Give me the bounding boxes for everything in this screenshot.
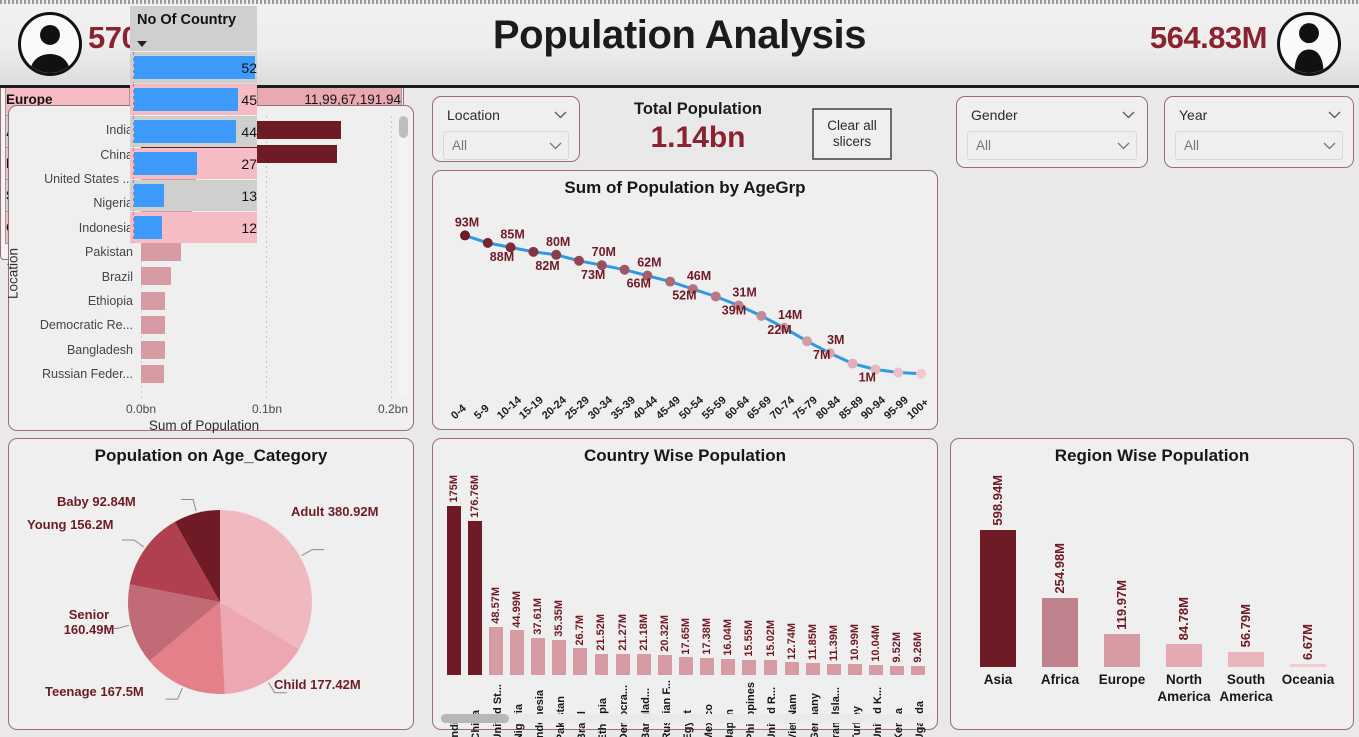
- country-chart-bars[interactable]: 175M176.76M48.57M44.99M37.61M35.35M26.7M…: [443, 475, 929, 675]
- axis-tick-label: 45-49: [654, 394, 683, 422]
- axis-tick-label: Oceania: [1277, 671, 1339, 688]
- chevron-down-icon[interactable]: [1328, 111, 1341, 119]
- pie-slice-label: Teenage 167.5M: [45, 684, 144, 699]
- region-bar[interactable]: [1104, 634, 1140, 667]
- location-bar[interactable]: [141, 316, 165, 334]
- data-label: 21.18M: [638, 614, 650, 651]
- region-bar-column[interactable]: 6.67M: [1290, 475, 1326, 667]
- axis-tick-label: 85-89: [837, 394, 866, 422]
- country-bar[interactable]: [510, 630, 524, 675]
- age-group-xaxis: 0-45-910-1415-1920-2425-2930-3435-3940-4…: [433, 384, 939, 428]
- scrollbar-thumb[interactable]: [399, 116, 408, 138]
- table-cell-country-count: 52: [130, 52, 258, 84]
- slicer-gender-value: All: [976, 138, 991, 153]
- data-label: 46M: [687, 269, 711, 283]
- location-bar-label: Democratic Re...: [19, 318, 141, 332]
- axis-tick-label: Europe: [1091, 671, 1153, 688]
- data-label: 85M: [500, 227, 524, 241]
- column-header-no-of-country[interactable]: No Of Country: [130, 6, 258, 52]
- pie-plot[interactable]: Adult 380.92MChild 177.42MTeenage 167.5M…: [9, 439, 415, 731]
- country-bar[interactable]: [806, 663, 820, 675]
- chevron-down-icon[interactable]: [549, 142, 562, 150]
- axis-tick-label: 40-44: [631, 394, 660, 422]
- data-label: 39M: [722, 304, 746, 318]
- slicer-year-label: Year: [1179, 107, 1207, 123]
- country-bar-column[interactable]: 9.26M: [911, 475, 925, 675]
- country-bar[interactable]: [616, 654, 630, 675]
- country-bar-column[interactable]: 48.57M: [489, 475, 503, 675]
- country-bar[interactable]: [911, 666, 925, 675]
- country-bar[interactable]: [869, 665, 883, 675]
- country-bar[interactable]: [742, 660, 756, 675]
- axis-tick-label: 30-34: [586, 394, 615, 422]
- data-point[interactable]: [711, 292, 721, 302]
- age-group-chart-title: Sum of Population by AgeGrp: [433, 171, 937, 198]
- axis-tick-label: United St...: [492, 684, 504, 737]
- location-chart-scrollbar[interactable]: [399, 116, 408, 398]
- axis-tick-label: United K...: [872, 687, 884, 737]
- age-category-pie-chart[interactable]: Population on Age_Category Adult 380.92M…: [8, 438, 414, 730]
- data-label: 80M: [546, 235, 570, 249]
- gridline: [391, 116, 392, 398]
- location-bar-label: China: [19, 148, 141, 162]
- header-top-pattern: [0, 0, 1359, 4]
- data-point[interactable]: [848, 359, 858, 369]
- slicer-year-dropdown[interactable]: All: [1175, 131, 1343, 160]
- table-cell-country-count: 45: [130, 84, 258, 116]
- data-label: 10.04M: [870, 625, 882, 662]
- pie-slice-label: Senior 160.49M: [53, 607, 125, 637]
- data-label: 31M: [732, 285, 756, 299]
- axis-tick-label: 70-74: [768, 394, 797, 422]
- total-population-value: 1.14bn: [600, 121, 796, 155]
- region-bar-chart[interactable]: Region Wise Population 598.94M254.98M119…: [950, 438, 1354, 730]
- data-label: 12.74M: [786, 623, 798, 660]
- data-point[interactable]: [893, 368, 903, 378]
- axis-tick-label: Africa: [1029, 671, 1091, 688]
- data-label: 88M: [490, 250, 514, 264]
- country-bar-column[interactable]: 21.18M: [637, 475, 651, 675]
- data-label: 1M: [859, 371, 876, 382]
- scrollbar-thumb[interactable]: [441, 714, 509, 723]
- country-bar[interactable]: [890, 666, 904, 675]
- country-chart-title: Country Wise Population: [433, 439, 937, 466]
- data-label: 62M: [637, 256, 661, 270]
- region-chart-title: Region Wise Population: [951, 439, 1353, 466]
- data-label: 175M: [448, 475, 460, 503]
- table-cell-country-count: 44: [130, 116, 258, 148]
- table-cell-country-count: 13: [130, 180, 258, 212]
- country-bar-column[interactable]: 17.65M: [679, 475, 693, 675]
- country-bar[interactable]: [595, 654, 609, 675]
- country-bar[interactable]: [700, 658, 714, 675]
- pie-slice-label: Young 156.2M: [27, 517, 113, 532]
- axis-tick-label: South America: [1215, 671, 1277, 705]
- data-label: 56.79M: [1238, 604, 1253, 647]
- location-bar-track: [141, 264, 391, 288]
- data-label: 84.78M: [1176, 597, 1191, 640]
- axis-tick-label: 75-79: [791, 394, 820, 422]
- axis-tick-label: 55-59: [700, 394, 729, 422]
- location-bar-label: Russian Feder...: [19, 367, 141, 381]
- data-point[interactable]: [528, 247, 538, 257]
- data-point[interactable]: [483, 238, 493, 248]
- data-label: 254.98M: [1052, 543, 1067, 594]
- pie-slice-label: Adult 380.92M: [291, 504, 378, 519]
- location-bar-row[interactable]: Democratic Re...: [19, 313, 391, 337]
- axis-tick-label: United R...: [766, 687, 778, 737]
- country-bar[interactable]: [637, 654, 651, 675]
- country-bar-column[interactable]: 44.99M: [510, 475, 524, 675]
- country-bar[interactable]: [764, 660, 778, 675]
- location-bar[interactable]: [141, 341, 165, 359]
- data-point[interactable]: [620, 265, 630, 275]
- chevron-down-icon[interactable]: [1122, 111, 1135, 119]
- country-bar-column[interactable]: 15.02M: [764, 475, 778, 675]
- axis-tick-label: 50-54: [677, 394, 706, 422]
- region-bar-column[interactable]: 119.97M: [1104, 475, 1140, 667]
- axis-tick-label: 0.2bn: [378, 402, 408, 416]
- data-label: 20.32M: [659, 615, 671, 652]
- region-bar[interactable]: [1042, 598, 1078, 667]
- axis-tick-label: Russian F...: [661, 680, 673, 737]
- country-bar-column[interactable]: 35.35M: [552, 475, 566, 675]
- axis-tick-label: 5-9: [472, 402, 492, 422]
- region-chart-bars[interactable]: 598.94M254.98M119.97M84.78M56.79M6.67M: [967, 475, 1339, 667]
- data-label: 11.39M: [828, 625, 840, 661]
- country-bar-column[interactable]: 176.76M: [468, 475, 482, 675]
- data-label: 15.02M: [765, 620, 777, 657]
- table-cell-value: 44: [130, 117, 257, 147]
- data-label: 73M: [581, 268, 605, 282]
- data-label: 35.35M: [553, 600, 565, 637]
- location-bar[interactable]: [141, 243, 181, 261]
- data-label: 10.99M: [849, 624, 861, 661]
- axis-tick-label: Asia: [967, 671, 1029, 688]
- region-bar-column[interactable]: 254.98M: [1042, 475, 1078, 667]
- country-bar-column[interactable]: 26.7M: [573, 475, 587, 675]
- data-label: 9.26M: [912, 632, 924, 663]
- data-label: 15.55M: [743, 620, 755, 657]
- location-bar-label: United States ...: [19, 172, 141, 186]
- country-bar[interactable]: [552, 640, 566, 675]
- data-label: 22M: [767, 323, 791, 337]
- slicer-gender-header[interactable]: Gender: [967, 105, 1137, 131]
- location-bar-row[interactable]: Pakistan: [19, 240, 391, 264]
- axis-tick-label: 80-84: [814, 394, 843, 422]
- country-bar-column[interactable]: 10.99M: [848, 475, 862, 675]
- data-label: 598.94M: [990, 475, 1005, 526]
- country-bar-column[interactable]: 21.27M: [616, 475, 630, 675]
- data-label: 37.61M: [532, 598, 544, 635]
- data-label: 17.65M: [680, 618, 692, 655]
- female-population-value: 564.83M: [1150, 20, 1267, 56]
- pie-leader-line: [181, 500, 196, 512]
- region-bar-column[interactable]: 84.78M: [1166, 475, 1202, 667]
- country-bar-column[interactable]: 10.04M: [869, 475, 883, 675]
- slicer-year-header[interactable]: Year: [1175, 105, 1343, 131]
- location-bar[interactable]: [141, 365, 164, 383]
- axis-tick-label: 15-19: [517, 394, 546, 422]
- location-bar[interactable]: [141, 292, 165, 310]
- table-cell-value: 27: [130, 149, 257, 179]
- region-bar-column[interactable]: 56.79M: [1228, 475, 1264, 667]
- clear-all-slicers-button[interactable]: Clear all slicers: [812, 108, 892, 160]
- location-bar-track: [141, 240, 391, 264]
- total-population-card: Total Population 1.14bn: [600, 100, 796, 155]
- data-label: 21.27M: [617, 614, 629, 651]
- location-bar-label: Nigeria: [19, 196, 141, 210]
- slicer-year[interactable]: Year All: [1164, 96, 1354, 168]
- country-bar-column[interactable]: 17.38M: [700, 475, 714, 675]
- country-bar-column[interactable]: 15.55M: [742, 475, 756, 675]
- data-label: 48.57M: [490, 587, 502, 624]
- data-point[interactable]: [916, 369, 926, 379]
- data-label: 14M: [778, 308, 802, 322]
- location-bar-label: Indonesia: [19, 221, 141, 235]
- table-cell-value: 13: [130, 181, 257, 211]
- country-bar[interactable]: [468, 521, 482, 675]
- region-chart-xaxis: AsiaAfricaEuropeNorth AmericaSouth Ameri…: [967, 671, 1339, 721]
- country-bar-column[interactable]: 12.74M: [785, 475, 799, 675]
- data-point[interactable]: [460, 230, 470, 240]
- chevron-down-icon[interactable]: [1323, 142, 1336, 150]
- region-bar[interactable]: [1228, 652, 1264, 667]
- axis-tick-label: Philippines: [745, 682, 757, 737]
- location-bar-track: [141, 313, 391, 337]
- country-bar[interactable]: [721, 659, 735, 675]
- data-label: 16.04M: [722, 619, 734, 656]
- data-label: 176.76M: [469, 475, 481, 518]
- pie-leader-line: [122, 540, 144, 547]
- sort-descending-icon[interactable]: [137, 41, 147, 47]
- country-bar[interactable]: [785, 662, 799, 675]
- country-bar[interactable]: [848, 664, 862, 675]
- slicer-year-value: All: [1184, 138, 1199, 153]
- axis-tick-label: 0.1bn: [252, 402, 282, 416]
- location-bar-label: Ethiopia: [19, 294, 141, 308]
- axis-tick-label: Iran (Isla...: [830, 687, 842, 737]
- age-group-line-chart[interactable]: Sum of Population by AgeGrp 93M88M85M82M…: [432, 170, 938, 430]
- country-bar-column[interactable]: 9.52M: [890, 475, 904, 675]
- country-bar[interactable]: [447, 506, 461, 675]
- axis-tick-label: 90-94: [859, 394, 888, 422]
- data-label: 93M: [455, 215, 479, 229]
- data-label: 26.7M: [574, 615, 586, 646]
- axis-tick-label: 95-99: [882, 394, 911, 422]
- data-label: 9.52M: [891, 632, 903, 663]
- region-bar-column[interactable]: 598.94M: [980, 475, 1016, 667]
- axis-tick-label: 60-64: [723, 394, 752, 422]
- table-cell-value: 52: [130, 53, 257, 83]
- slicer-gender-dropdown[interactable]: All: [967, 131, 1137, 160]
- table-cell-value: 45: [130, 85, 257, 115]
- data-label: 66M: [627, 277, 651, 291]
- age-group-line-plot: 93M88M85M82M80M73M70M66M62M52M46M39M31M2…: [433, 197, 939, 382]
- total-population-label: Total Population: [600, 100, 796, 119]
- data-label: 11.85M: [807, 624, 819, 660]
- country-bar[interactable]: [573, 648, 587, 675]
- data-label: 7M: [813, 348, 830, 362]
- location-bar-track: [141, 338, 391, 362]
- country-bar[interactable]: [489, 627, 503, 675]
- country-bar-chart[interactable]: Country Wise Population 175M176.76M48.57…: [432, 438, 938, 730]
- slicer-location-value: All: [452, 138, 467, 153]
- location-bar[interactable]: [141, 267, 171, 285]
- country-bar[interactable]: [658, 655, 672, 675]
- axis-tick-label: 0-4: [449, 402, 469, 422]
- pie-leader-line: [302, 550, 325, 556]
- country-bar-column[interactable]: 37.61M: [531, 475, 545, 675]
- data-label: 70M: [592, 245, 616, 259]
- location-bar-label: Pakistan: [19, 245, 141, 259]
- country-bar-column[interactable]: 11.85M: [806, 475, 820, 675]
- country-bar[interactable]: [827, 664, 841, 675]
- country-chart-xaxis: IndiaChinaUnited St...NigeriaIndonesiaPa…: [443, 679, 929, 737]
- data-point[interactable]: [802, 336, 812, 346]
- location-bar-row[interactable]: Bangladesh: [19, 338, 391, 362]
- location-bar-label: India: [19, 123, 141, 137]
- data-label: 6.67M: [1300, 624, 1315, 660]
- location-bar-track: [141, 289, 391, 313]
- axis-tick-label: 10-14: [495, 394, 524, 422]
- axis-tick-label: Banglad...: [640, 688, 652, 737]
- location-bar-row[interactable]: Russian Feder...: [19, 362, 391, 386]
- data-label: 17.38M: [701, 618, 713, 655]
- country-bar-column[interactable]: 11.39M: [827, 475, 841, 675]
- slicer-location-dropdown[interactable]: All: [443, 131, 569, 160]
- location-bar-label: Brazil: [19, 270, 141, 284]
- data-label: 44.99M: [511, 591, 523, 628]
- slicer-location-label: Location: [447, 107, 500, 123]
- slicer-location-header[interactable]: Location: [443, 105, 569, 131]
- pie-slice-label: Baby 92.84M: [57, 494, 136, 509]
- axis-tick-label: 20-24: [540, 394, 569, 422]
- slicer-location[interactable]: Location All: [432, 96, 580, 162]
- slicer-gender-label: Gender: [971, 107, 1018, 123]
- pie-slice-label: Child 177.42M: [274, 677, 361, 692]
- region-bar[interactable]: [1290, 664, 1326, 667]
- axis-tick-label: North America: [1153, 671, 1215, 705]
- country-bar-column[interactable]: 21.52M: [595, 475, 609, 675]
- female-avatar-icon: [1277, 12, 1341, 76]
- country-bar[interactable]: [679, 657, 693, 675]
- dashboard-root: 570.54M Population Analysis 564.83M Loca…: [0, 0, 1359, 737]
- chevron-down-icon[interactable]: [554, 111, 567, 119]
- location-chart-xlabel: Sum of Population: [9, 418, 399, 433]
- axis-tick-label: 35-39: [609, 394, 638, 422]
- chevron-down-icon[interactable]: [1117, 142, 1130, 150]
- data-label: 21.52M: [595, 614, 607, 651]
- pie-leader-line: [166, 688, 183, 699]
- data-point[interactable]: [756, 311, 766, 321]
- location-bar-row[interactable]: Ethiopia: [19, 289, 391, 313]
- country-bar-column[interactable]: 16.04M: [721, 475, 735, 675]
- table-cell-country-count: 12: [130, 212, 258, 244]
- data-point[interactable]: [665, 277, 675, 287]
- data-label: 82M: [535, 259, 559, 273]
- axis-tick-label: 25-29: [563, 394, 592, 422]
- axis-tick-label: 0.0bn: [126, 402, 156, 416]
- axis-tick-label: Democra...: [618, 685, 630, 737]
- country-bar-column[interactable]: 20.32M: [658, 475, 672, 675]
- axis-tick-label: 65-69: [745, 394, 774, 422]
- table-cell-value: 12: [130, 213, 257, 243]
- location-bar-row[interactable]: Brazil: [19, 264, 391, 288]
- region-bar[interactable]: [1166, 644, 1202, 667]
- location-bar-label: Bangladesh: [19, 343, 141, 357]
- country-bar-column[interactable]: 175M: [447, 475, 461, 675]
- country-chart-scrollbar[interactable]: [441, 714, 929, 723]
- data-label: 3M: [827, 333, 844, 347]
- country-bar[interactable]: [531, 638, 545, 675]
- slicer-gender[interactable]: Gender All: [956, 96, 1148, 168]
- data-point[interactable]: [574, 256, 584, 266]
- region-bar[interactable]: [980, 530, 1016, 667]
- data-label: 52M: [672, 289, 696, 303]
- location-bar-track: [141, 362, 391, 386]
- table-cell-country-count: 27: [130, 148, 258, 180]
- data-label: 119.97M: [1114, 580, 1129, 630]
